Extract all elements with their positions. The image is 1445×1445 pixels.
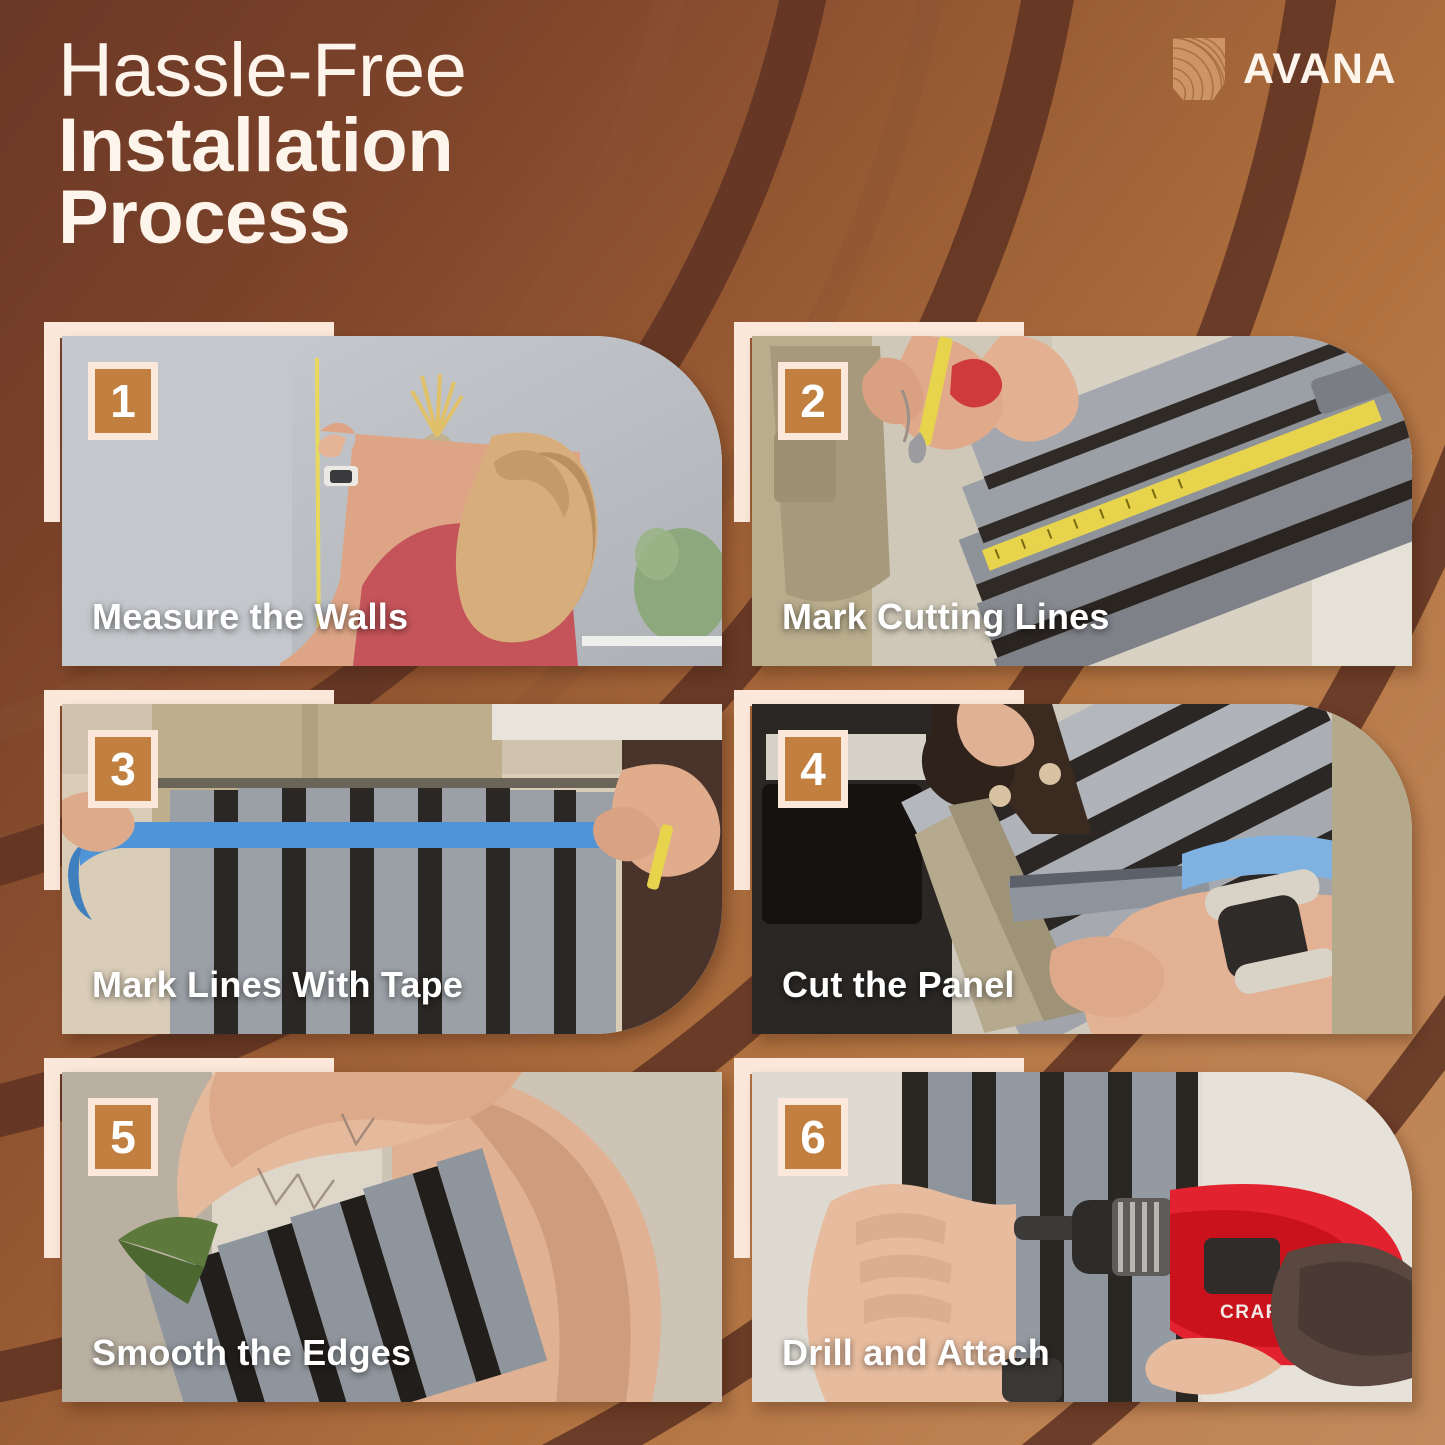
step-card-body[interactable]: 2 Mark Cutting Lines bbox=[752, 336, 1412, 666]
step-number-badge: 6 bbox=[778, 1098, 848, 1176]
poster-header: Hassle-Free Installation Process AVANA bbox=[0, 0, 1445, 320]
frame-accent-left bbox=[44, 322, 60, 522]
step-card-1[interactable]: 1 Measure the Walls bbox=[62, 336, 722, 666]
frame-accent-left bbox=[734, 1058, 750, 1258]
step-row-3: 5 Smooth the Edges bbox=[0, 1072, 1445, 1440]
step-card-body[interactable]: CRAFTSMAN 6 Drill and Attach bbox=[752, 1072, 1412, 1402]
frame-accent-left bbox=[44, 1058, 60, 1258]
step-card-3[interactable]: 3 Mark Lines With Tape bbox=[62, 704, 722, 1034]
page-title: Hassle-Free Installation Process bbox=[58, 36, 818, 256]
step-row-2: 3 Mark Lines With Tape bbox=[0, 704, 1445, 1072]
step-card-body[interactable]: 1 Measure the Walls bbox=[62, 336, 722, 666]
step-number-badge: 4 bbox=[778, 730, 848, 808]
step-caption: Mark Lines With Tape bbox=[92, 964, 463, 1006]
step-number-badge: 1 bbox=[88, 362, 158, 440]
step-card-body[interactable]: 3 Mark Lines With Tape bbox=[62, 704, 722, 1034]
step-caption: Measure the Walls bbox=[92, 596, 408, 638]
installation-process-infographic: Hassle-Free Installation Process AVANA bbox=[0, 0, 1445, 1445]
step-number: 5 bbox=[110, 1114, 136, 1160]
title-line-2: Installation bbox=[58, 111, 818, 182]
title-line-1: Hassle-Free bbox=[58, 36, 818, 107]
step-caption: Mark Cutting Lines bbox=[782, 596, 1110, 638]
wood-grain-block-icon bbox=[1173, 38, 1225, 100]
frame-accent-left bbox=[734, 690, 750, 890]
brand-logo: AVANA bbox=[1173, 38, 1397, 100]
step-number-badge: 5 bbox=[88, 1098, 158, 1176]
step-caption: Drill and Attach bbox=[782, 1332, 1050, 1374]
step-card-5[interactable]: 5 Smooth the Edges bbox=[62, 1072, 722, 1402]
step-number-badge: 3 bbox=[88, 730, 158, 808]
step-card-4[interactable]: 4 Cut the Panel bbox=[752, 704, 1412, 1034]
step-card-body[interactable]: 4 Cut the Panel bbox=[752, 704, 1412, 1034]
step-number: 4 bbox=[800, 746, 826, 792]
step-number: 6 bbox=[800, 1114, 826, 1160]
step-card-6[interactable]: CRAFTSMAN 6 Drill and Attach bbox=[752, 1072, 1412, 1402]
step-number-badge: 2 bbox=[778, 362, 848, 440]
step-number: 3 bbox=[110, 746, 136, 792]
step-card-2[interactable]: 2 Mark Cutting Lines bbox=[752, 336, 1412, 666]
frame-accent-left bbox=[734, 322, 750, 522]
step-caption: Cut the Panel bbox=[782, 964, 1015, 1006]
brand-name-text: AVANA bbox=[1243, 45, 1397, 94]
step-row-1: 1 Measure the Walls bbox=[0, 336, 1445, 704]
step-card-body[interactable]: 5 Smooth the Edges bbox=[62, 1072, 722, 1402]
step-caption: Smooth the Edges bbox=[92, 1332, 411, 1374]
title-line-3: Process bbox=[58, 183, 818, 254]
step-number: 2 bbox=[800, 378, 826, 424]
frame-accent-left bbox=[44, 690, 60, 890]
step-number: 1 bbox=[110, 378, 136, 424]
steps-grid: 1 Measure the Walls bbox=[0, 336, 1445, 1440]
